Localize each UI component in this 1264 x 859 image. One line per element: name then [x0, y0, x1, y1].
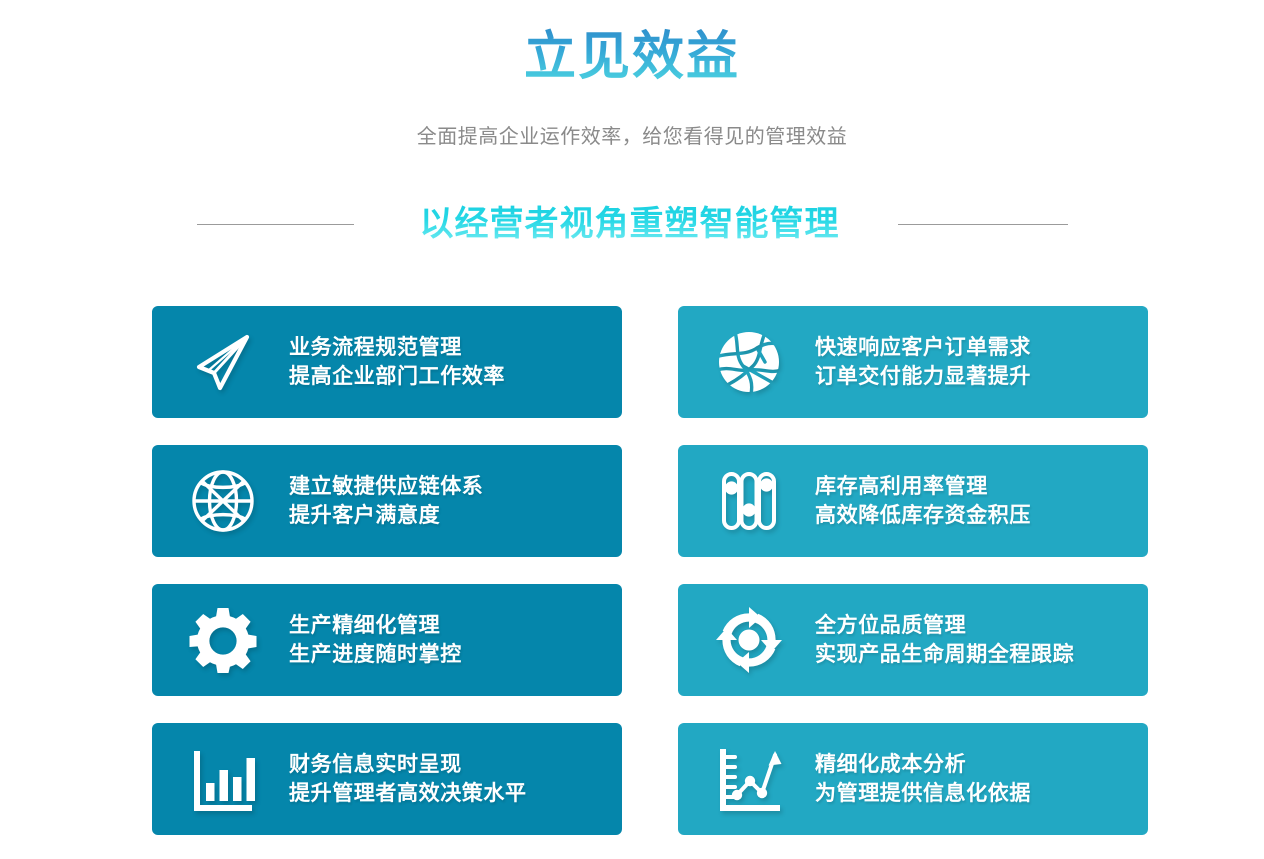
benefit-card[interactable]: 财务信息实时呈现提升管理者高效决策水平	[152, 723, 622, 835]
divider-line-left	[197, 224, 354, 225]
benefit-card[interactable]: 建立敏捷供应链体系提升客户满意度	[152, 445, 622, 557]
benefit-card-line2: 订单交付能力显著提升	[815, 362, 1148, 391]
benefit-card-text: 精细化成本分析为管理提供信息化依据	[815, 750, 1148, 808]
benefit-card-line1: 全方位品质管理	[815, 611, 1148, 640]
network-globe-icon	[713, 326, 785, 398]
gear-icon	[187, 604, 259, 676]
benefit-card-text: 财务信息实时呈现提升管理者高效决策水平	[289, 750, 622, 808]
refresh-cycle-icon	[713, 604, 785, 676]
benefit-card-text: 生产精细化管理生产进度随时掌控	[289, 611, 622, 669]
benefit-card-line2: 提升客户满意度	[289, 501, 622, 530]
section-heading: 以经营者视角重塑智能管理	[0, 200, 1264, 248]
benefit-card[interactable]: 生产精细化管理生产进度随时掌控	[152, 584, 622, 696]
benefit-card-text: 业务流程规范管理提高企业部门工作效率	[289, 333, 622, 391]
benefits-page: 立见效益 全面提高企业运作效率，给您看得见的管理效益 以经营者视角重塑智能管理 …	[0, 0, 1264, 859]
benefit-card-line2: 生产进度随时掌控	[289, 640, 622, 669]
section-title: 以经营者视角重塑智能管理	[420, 201, 840, 247]
page-subtitle: 全面提高企业运作效率，给您看得见的管理效益	[0, 122, 1264, 152]
benefit-card-line1: 业务流程规范管理	[289, 333, 622, 362]
benefit-card[interactable]: 全方位品质管理实现产品生命周期全程跟踪	[678, 584, 1148, 696]
benefit-card[interactable]: 库存高利用率管理高效降低库存资金积压	[678, 445, 1148, 557]
benefit-card-text: 建立敏捷供应链体系提升客户满意度	[289, 472, 622, 530]
benefit-card-line1: 建立敏捷供应链体系	[289, 472, 622, 501]
divider-line-right	[898, 224, 1068, 225]
globe-outline-icon	[187, 465, 259, 537]
benefit-card-text: 库存高利用率管理高效降低库存资金积压	[815, 472, 1148, 530]
benefit-card-text: 快速响应客户订单需求订单交付能力显著提升	[815, 333, 1148, 391]
benefit-card[interactable]: 精细化成本分析为管理提供信息化依据	[678, 723, 1148, 835]
bar-chart-icon	[187, 743, 259, 815]
line-chart-icon	[713, 743, 785, 815]
benefit-card-line1: 快速响应客户订单需求	[815, 333, 1148, 362]
benefit-card-line2: 为管理提供信息化依据	[815, 779, 1148, 808]
benefit-card-line1: 财务信息实时呈现	[289, 750, 622, 779]
benefit-card-line2: 提升管理者高效决策水平	[289, 779, 622, 808]
benefit-card-line1: 精细化成本分析	[815, 750, 1148, 779]
benefit-card-line2: 提高企业部门工作效率	[289, 362, 622, 391]
benefit-card-line1: 库存高利用率管理	[815, 472, 1148, 501]
benefit-card-grid: 业务流程规范管理提高企业部门工作效率	[152, 306, 1148, 835]
page-title: 立见效益	[0, 26, 1264, 88]
benefit-card-line1: 生产精细化管理	[289, 611, 622, 640]
sliders-icon	[713, 465, 785, 537]
paper-plane-icon	[187, 326, 259, 398]
benefit-card[interactable]: 业务流程规范管理提高企业部门工作效率	[152, 306, 622, 418]
benefit-card-line2: 实现产品生命周期全程跟踪	[815, 640, 1148, 669]
benefit-card-text: 全方位品质管理实现产品生命周期全程跟踪	[815, 611, 1148, 669]
benefit-card[interactable]: 快速响应客户订单需求订单交付能力显著提升	[678, 306, 1148, 418]
benefit-card-line2: 高效降低库存资金积压	[815, 501, 1148, 530]
